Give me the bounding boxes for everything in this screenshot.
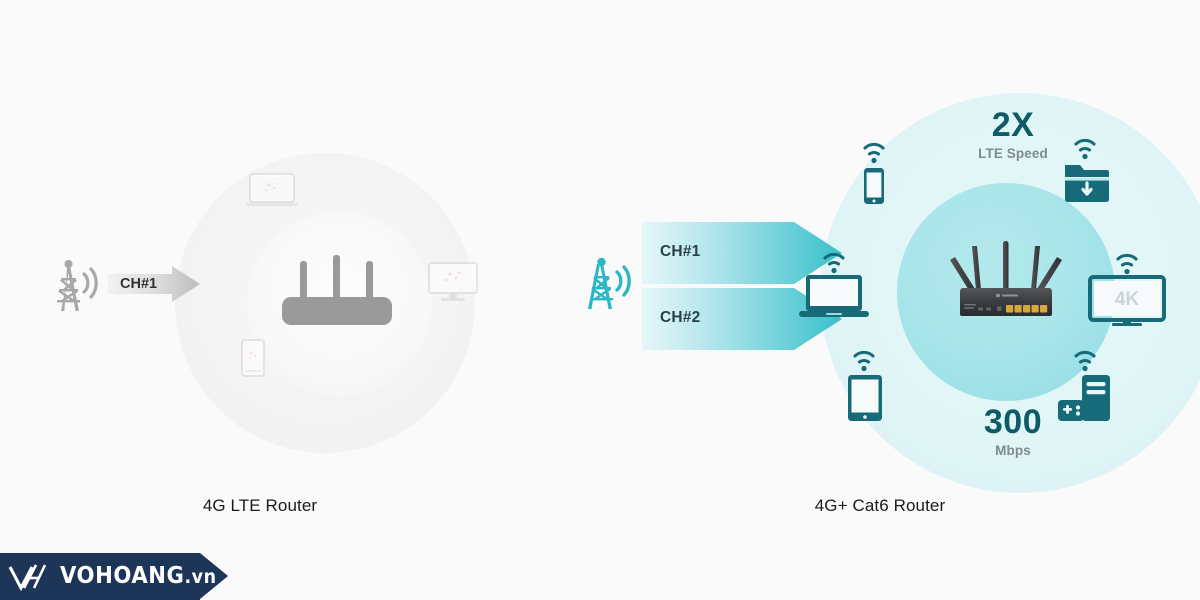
logo-wordmark: VOHOANG.vn bbox=[60, 563, 217, 589]
router-antenna bbox=[1037, 257, 1062, 292]
right-caption: 4G+ Cat6 Router bbox=[765, 496, 995, 516]
cell-tower-icon bbox=[582, 255, 646, 313]
channel-arrow-1-label: CH#1 bbox=[660, 243, 700, 261]
router-icon bbox=[272, 245, 402, 325]
vohoang-logo[interactable]: VOHOANG.vn bbox=[0, 553, 228, 600]
router-antenna bbox=[366, 261, 373, 301]
left-panel-4g-lte: CH#1 bbox=[0, 0, 560, 540]
router-antenna bbox=[1003, 241, 1009, 290]
stat-throughput-unit: Mbps bbox=[933, 443, 1093, 458]
cell-tower-icon bbox=[50, 258, 112, 314]
smartphone-icon bbox=[842, 131, 906, 209]
tablet-icon bbox=[833, 342, 897, 420]
router-antenna bbox=[300, 261, 307, 301]
left-channel-label: CH#1 bbox=[120, 276, 157, 292]
router-antenna bbox=[1031, 246, 1040, 290]
folder-download-icon bbox=[1054, 131, 1118, 209]
illustration-canvas: CH#1 bbox=[0, 0, 1200, 600]
channel-arrow-2-label: CH#2 bbox=[660, 309, 700, 327]
right-panel-4g-cat6: CH#1 CH#2 2X LTE Speed 300 Mbps bbox=[560, 0, 1200, 540]
router-antenna bbox=[333, 255, 340, 301]
wifi-router-device bbox=[941, 228, 1071, 324]
game-console-icon bbox=[1048, 342, 1124, 420]
laptop-icon bbox=[791, 244, 877, 322]
router-ports bbox=[1006, 305, 1047, 313]
monitor-icon bbox=[428, 262, 478, 304]
router-body bbox=[282, 297, 392, 325]
left-caption: 4G LTE Router bbox=[160, 496, 360, 516]
tv-4k-icon: 4K bbox=[1082, 246, 1172, 324]
logo-tld: .vn bbox=[184, 566, 216, 588]
tv-4k-label: 4K bbox=[1115, 289, 1140, 310]
vh-monogram-icon bbox=[8, 562, 48, 592]
router-antenna bbox=[950, 257, 975, 292]
router-antenna bbox=[972, 246, 981, 290]
logo-brand: VOHOANG bbox=[60, 563, 184, 589]
laptop-icon bbox=[246, 172, 298, 210]
phone-icon bbox=[241, 339, 265, 377]
